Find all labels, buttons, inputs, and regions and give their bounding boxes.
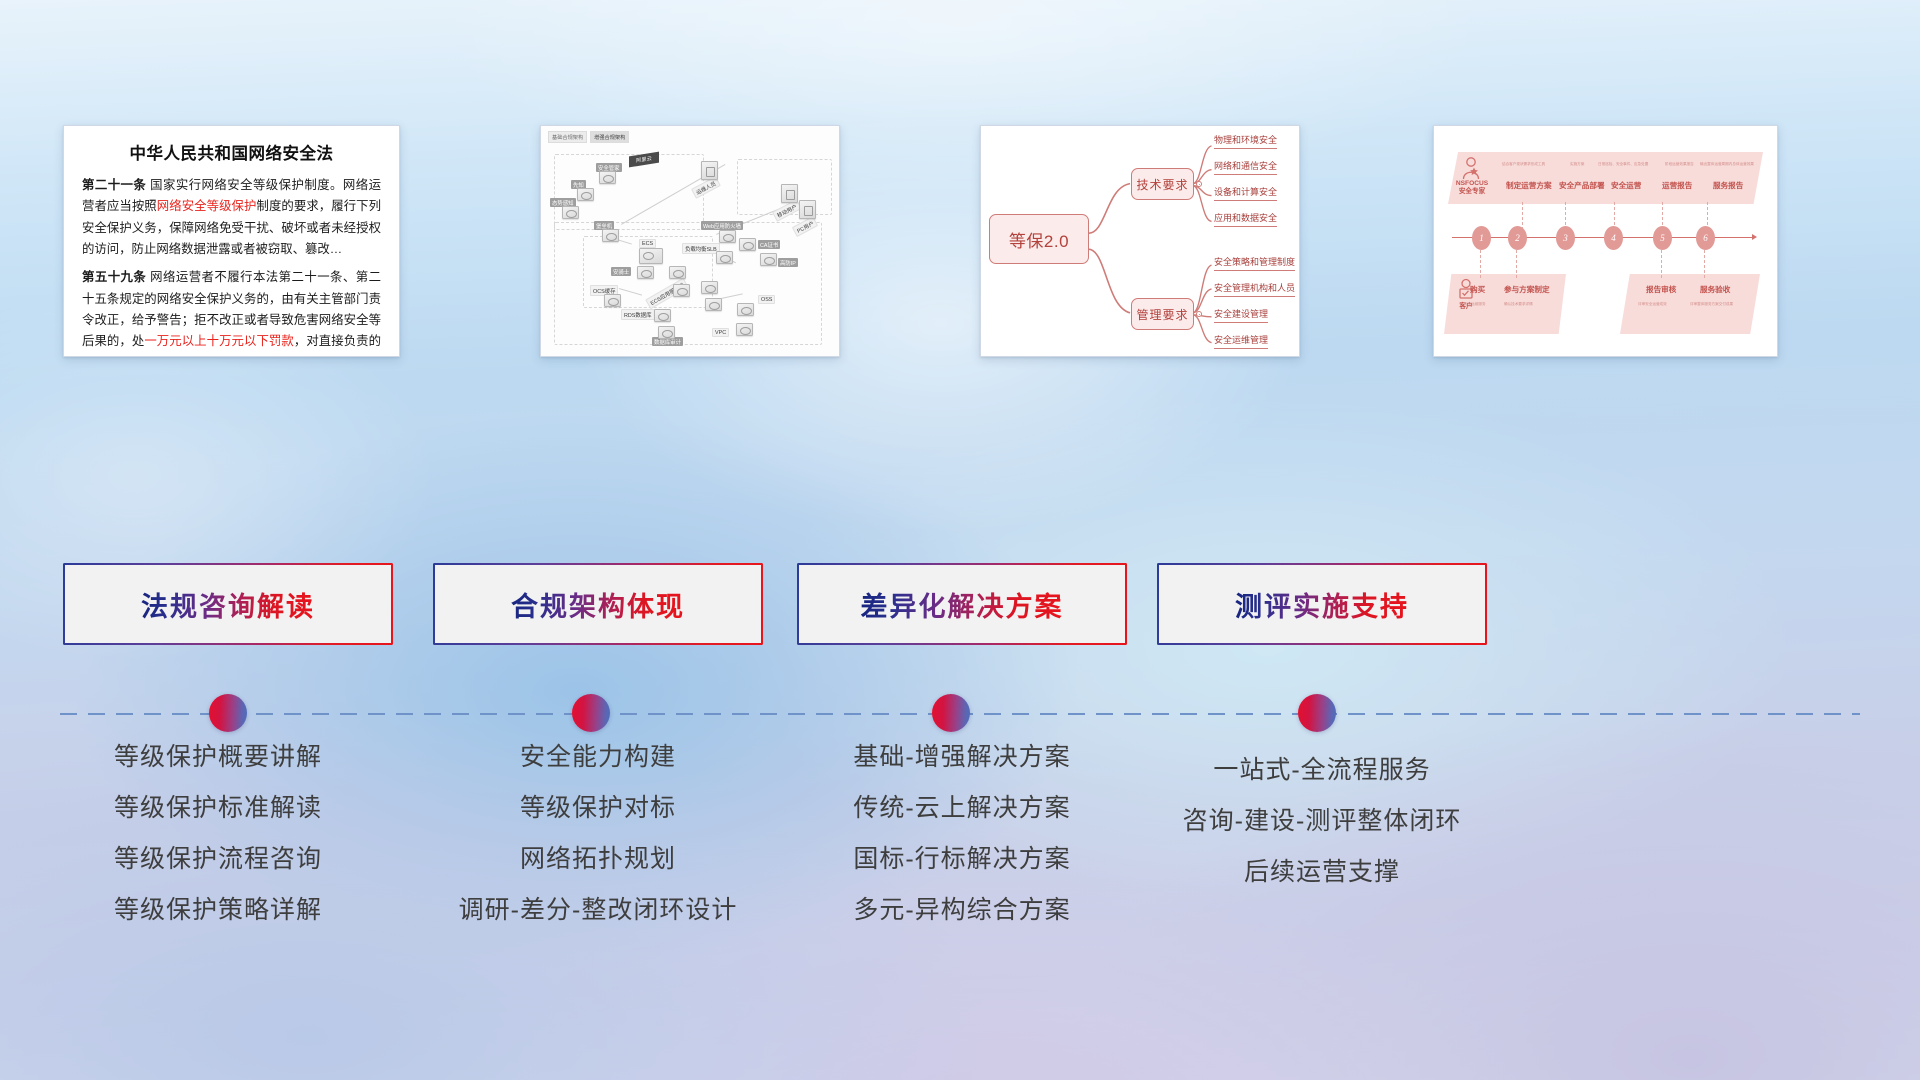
timeline-node-1[interactable] xyxy=(209,694,247,732)
law-card: 中华人民共和国网络安全法 第二十一条 国家实行网络安全等级保护制度。网络运营者应… xyxy=(63,125,400,357)
expert-person-icon xyxy=(1460,156,1482,180)
server-icon xyxy=(599,171,616,184)
illustration-card-row: 中华人民共和国网络安全法 第二十一条 国家实行网络安全等级保护制度。网络运营者应… xyxy=(0,125,1920,360)
architecture-node: 先知 xyxy=(577,188,594,201)
step-bottom-title: 服务验收 xyxy=(1700,284,1730,295)
mobile-icon xyxy=(781,184,798,203)
step-top-title: 运营报告 xyxy=(1662,180,1692,191)
server-icon xyxy=(562,206,579,219)
law-article-number: 第五十九条 xyxy=(82,270,146,284)
server-icon xyxy=(654,309,671,322)
step-top-title: 安全运营 xyxy=(1611,180,1641,191)
server-icon xyxy=(701,281,718,294)
detail-item: 等级保护策略详解 xyxy=(38,898,398,923)
server-icon xyxy=(716,251,733,264)
architecture-node: CA证书 xyxy=(739,238,756,251)
server-icon xyxy=(760,253,777,266)
timeline-step: 6 xyxy=(1696,226,1715,250)
timeline-step: 3 xyxy=(1556,226,1575,250)
server-icon xyxy=(673,284,690,297)
node-label: CA证书 xyxy=(758,240,780,249)
law-highlight-run: 五千元以上五万元以下 xyxy=(144,356,268,357)
architecture-node xyxy=(673,284,690,297)
server-icon xyxy=(637,266,654,279)
law-highlight-run: 一万元以上十万元以下罚款 xyxy=(144,334,294,348)
step-bottom-sub: 确认技术要求详情 xyxy=(1504,302,1533,307)
section-label-box-3[interactable]: 差异化解决方案 xyxy=(797,563,1127,645)
section-detail-columns: 等级保护概要讲解 等级保护标准解读 等级保护流程咨询 等级保护策略详解 安全能力… xyxy=(0,745,1920,1045)
law-article-number: 第二十一条 xyxy=(82,178,146,192)
timeline-step: 5 xyxy=(1653,226,1672,250)
server-icon xyxy=(639,248,663,264)
architecture-node: PC用户 xyxy=(799,200,816,219)
detail-column-4: 一站式-全流程服务 咨询-建设-测评整体闭环 后续运营支撑 xyxy=(1142,745,1502,911)
law-paragraph: 第五十九条 网络运营者不履行本法第二十一条、第二十五条规定的网络安全保护义务的，… xyxy=(82,267,381,357)
server-icon xyxy=(737,303,754,316)
detail-item: 网络拓扑规划 xyxy=(418,847,778,872)
architecture-node: VPC xyxy=(736,323,753,336)
timeline-tick xyxy=(1516,250,1517,278)
detail-item: 安全能力构建 xyxy=(418,745,778,770)
architecture-node: 数据库审计 xyxy=(658,326,675,339)
tab-enhanced-compliance[interactable]: 增强合规架构 xyxy=(590,131,629,143)
server-icon xyxy=(736,323,753,336)
detail-column-3: 基础-增强解决方案 传统-云上解决方案 国标-行标解决方案 多元-异构综合方案 xyxy=(782,745,1142,949)
mindmap-expand-dot[interactable] xyxy=(1196,181,1202,187)
service-timeline-card: NSFOCUS 安全专家 客户 结合客户现状需求形成工具 制定运营方案 实施方案… xyxy=(1433,125,1778,357)
step-bottom-sub: 评审安全运营成效 xyxy=(1638,302,1667,307)
detail-item: 传统-云上解决方案 xyxy=(782,796,1142,821)
architecture-node: OSS xyxy=(737,303,754,316)
architecture-node: 运维人员 xyxy=(701,161,718,180)
desktop-icon xyxy=(799,200,816,219)
architecture-node xyxy=(705,298,722,311)
architecture-node: ECS xyxy=(639,248,663,264)
mindmap-branch-management: 管理要求 xyxy=(1131,298,1194,330)
node-label: VPC xyxy=(712,328,729,337)
user-icon xyxy=(701,161,718,180)
node-label: ECS xyxy=(639,239,656,248)
architecture-node: ECS应用服务器 xyxy=(669,266,686,279)
step-top-title: 服务报告 xyxy=(1713,180,1743,191)
timeline-tick xyxy=(1661,250,1662,278)
mindmap-expand-dot[interactable] xyxy=(1196,311,1202,317)
mindmap-leaf: 安全运维管理 xyxy=(1214,333,1268,349)
mindmap-card: 等保2.0 技术要求 物理和环境安全 网络和通信安全 设备和计算安全 应用和数据… xyxy=(980,125,1300,357)
server-icon xyxy=(658,326,675,339)
section-label-text: 差异化解决方案 xyxy=(861,585,1064,624)
detail-item: 调研-差分-整改闭环设计 xyxy=(418,898,778,923)
architecture-node: 堡垒机 xyxy=(602,229,619,242)
server-icon xyxy=(739,238,756,251)
detail-item: 等级保护概要讲解 xyxy=(38,745,398,770)
detail-item: 等级保护对标 xyxy=(418,796,778,821)
timeline-node-4[interactable] xyxy=(1298,694,1336,732)
mindmap-leaf: 安全管理机构和人员 xyxy=(1214,281,1295,297)
timeline-arrow-icon xyxy=(1752,234,1757,240)
section-label-text: 法规咨询解读 xyxy=(141,585,315,624)
architecture-node: OCS缓存 xyxy=(604,294,621,307)
step-top-title: 制定运营方案 xyxy=(1506,180,1552,191)
section-label-box-1[interactable]: 法规咨询解读 xyxy=(63,563,393,645)
node-label: 安骑士 xyxy=(611,267,631,276)
step-bottom-title: 报告审核 xyxy=(1646,284,1676,295)
timeline-tick xyxy=(1704,250,1705,278)
detail-item: 一站式-全流程服务 xyxy=(1142,758,1502,783)
law-card-title: 中华人民共和国网络安全法 xyxy=(82,140,381,164)
detail-column-1: 等级保护概要讲解 等级保护标准解读 等级保护流程咨询 等级保护策略详解 xyxy=(38,745,398,949)
architecture-node: 移动用户 xyxy=(781,184,798,203)
mindmap-leaf: 网络和通信安全 xyxy=(1214,159,1277,175)
detail-item: 国标-行标解决方案 xyxy=(782,847,1142,872)
section-label-box-4[interactable]: 测评实施支持 xyxy=(1157,563,1487,645)
architecture-tab-group[interactable]: 基础合规架构 增强合规架构 xyxy=(548,131,629,143)
detail-item: 咨询-建设-测评整体闭环 xyxy=(1142,809,1502,834)
detail-item: 等级保护标准解读 xyxy=(38,796,398,821)
step-bottom-sub: 安全运维服务 xyxy=(1464,302,1486,307)
mindmap-leaf: 设备和计算安全 xyxy=(1214,185,1277,201)
detail-column-2: 安全能力构建 等级保护对标 网络拓扑规划 调研-差分-整改闭环设计 xyxy=(418,745,778,949)
step-top-sub: 日常巡检、安全事件、应急处置 xyxy=(1598,162,1648,167)
architecture-node: 安骑士 xyxy=(637,266,654,279)
step-top-sub: 阶段运营效果报告 xyxy=(1665,162,1694,167)
architecture-node: 负载均衡SLB xyxy=(716,251,733,264)
architecture-node: 态势感知 xyxy=(562,206,579,219)
architecture-node: RDS数据库 xyxy=(654,309,671,322)
law-highlight-run: 网络安全等级保护 xyxy=(157,199,257,213)
server-icon xyxy=(719,230,736,243)
detail-item: 多元-异构综合方案 xyxy=(782,898,1142,923)
mindmap-root-node: 等保2.0 xyxy=(989,214,1089,264)
timeline-tick xyxy=(1522,202,1523,230)
step-bottom-sub: 评审整体服务方案交付成果 xyxy=(1690,302,1733,307)
section-label-box-2[interactable]: 合规架构体现 xyxy=(433,563,763,645)
detail-item: 后续运营支撑 xyxy=(1142,860,1502,885)
architecture-node: Web应用防火墙 xyxy=(719,230,736,243)
node-label: OSS xyxy=(758,295,775,304)
brand-line-1: NSFOCUS xyxy=(1450,180,1494,188)
law-paragraph: 第二十一条 国家实行网络安全等级保护制度。网络运营者应当按照网络安全等级保护制度… xyxy=(82,175,381,260)
timeline-node-3[interactable] xyxy=(932,694,970,732)
server-icon xyxy=(604,294,621,307)
section-timeline xyxy=(0,694,1920,734)
architecture-node: 安全管家 xyxy=(599,171,616,184)
node-label: RDS数据库 xyxy=(621,309,655,320)
brand-label: NSFOCUS 安全专家 xyxy=(1450,180,1494,196)
server-icon xyxy=(602,229,619,242)
architecture-node: 高防IP xyxy=(760,253,777,266)
mindmap-branch-technical: 技术要求 xyxy=(1131,168,1194,200)
timeline-top-band xyxy=(1448,152,1763,204)
section-label-text: 合规架构体现 xyxy=(511,585,685,624)
architecture-card: 基础合规架构 增强合规架构 阿里云 安全管家 先知 xyxy=(540,125,840,357)
step-top-sub: 结合客户现状需求形成工具 xyxy=(1502,162,1545,167)
server-icon xyxy=(577,188,594,201)
step-bottom-title: 购买 xyxy=(1470,284,1485,295)
timeline-step: 2 xyxy=(1508,226,1527,250)
detail-item: 等级保护流程咨询 xyxy=(38,847,398,872)
section-label-text: 测评实施支持 xyxy=(1235,585,1409,624)
step-top-sub: 输出整体运营周期内总体运营效果 xyxy=(1700,162,1754,167)
architecture-node xyxy=(701,281,718,294)
step-top-title: 安全产品部署 xyxy=(1559,180,1605,191)
tab-basic-compliance[interactable]: 基础合规架构 xyxy=(548,131,587,143)
step-bottom-title: 参与方案制定 xyxy=(1504,284,1550,295)
detail-item: 基础-增强解决方案 xyxy=(782,745,1142,770)
mindmap-leaf: 应用和数据安全 xyxy=(1214,211,1277,227)
timeline-step: 1 xyxy=(1472,226,1491,250)
server-icon xyxy=(669,266,686,279)
timeline-node-2[interactable] xyxy=(572,694,610,732)
brand-line-2: 安全专家 xyxy=(1450,188,1494,196)
node-label: 高防IP xyxy=(778,258,798,267)
node-label: 负载均衡SLB xyxy=(682,243,720,254)
section-label-row: 法规咨询解读 合规架构体现 差异化解决方案 测评实施支持 xyxy=(0,563,1920,663)
mindmap-leaf: 物理和环境安全 xyxy=(1214,133,1277,149)
step-top-sub: 实施方案 xyxy=(1570,162,1584,167)
timeline-step: 4 xyxy=(1604,226,1623,250)
law-text-run: 罚款。 xyxy=(268,356,305,357)
mindmap-leaf: 安全建设管理 xyxy=(1214,307,1268,323)
timeline-tick xyxy=(1480,250,1481,278)
server-icon xyxy=(705,298,722,311)
node-label: Web应用防火墙 xyxy=(701,221,743,230)
mindmap-leaf: 安全策略和管理制度 xyxy=(1214,255,1295,271)
